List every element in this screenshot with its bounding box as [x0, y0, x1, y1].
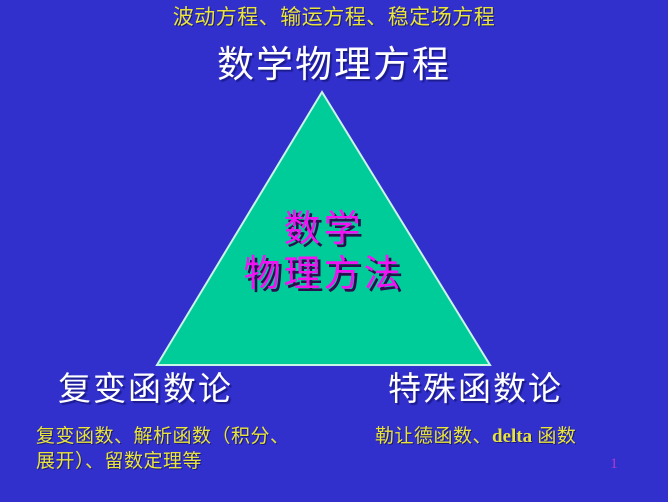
page-number: 1: [602, 455, 626, 473]
triangle-center-line-2: 物理方法: [157, 252, 490, 297]
branch-detail-right-suffix: 函数: [532, 426, 576, 447]
triangle-center-line-1: 数学: [157, 207, 490, 252]
branch-heading-right: 特殊函数论: [388, 370, 563, 410]
branch-detail-right-latin-term: delta: [492, 426, 532, 447]
presentation-slide: 波动方程、输运方程、稳定场方程 数学物理方程 数学 物理方法 复变函数论 特殊函…: [0, 0, 668, 502]
branch-detail-left: 复变函数、解析函数（积分、 展开）、留数定理等: [36, 424, 346, 474]
page-title: 数学物理方程: [0, 44, 668, 88]
branch-detail-left-line-2: 展开）、留数定理等: [36, 449, 346, 474]
branch-heading-left: 复变函数论: [58, 370, 233, 410]
triangle-center-label: 数学 物理方法: [157, 207, 490, 297]
branch-detail-right-prefix: 勒让德函数、: [375, 426, 492, 447]
top-subtitle: 波动方程、输运方程、稳定场方程: [0, 4, 668, 30]
branch-detail-right: 勒让德函数、delta 函数: [375, 424, 660, 449]
branch-detail-left-line-1: 复变函数、解析函数（积分、: [36, 424, 346, 449]
